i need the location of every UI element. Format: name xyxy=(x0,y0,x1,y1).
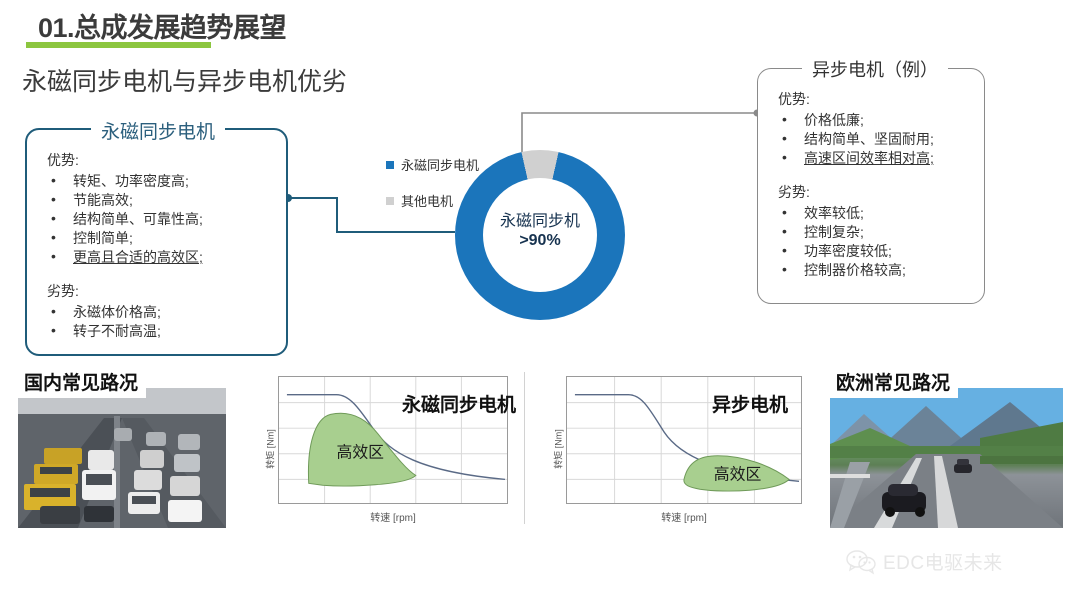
slide-root: 01.总成发展趋势展望 永磁同步电机与异步电机优劣 永磁同步电机 优势: 转矩、… xyxy=(0,0,1080,608)
wechat-icon xyxy=(845,549,877,575)
donut-center-line2: >90% xyxy=(455,231,625,250)
chart-divider xyxy=(524,372,525,524)
x-axis-label: 转速 [rpm] xyxy=(566,509,802,524)
svg-text:高效区: 高效区 xyxy=(336,444,384,462)
list-item: 功率密度较低; xyxy=(774,242,974,261)
callout-title-pmsm: 永磁同步电机 xyxy=(91,117,225,144)
list-item: 更高且合适的高效区; xyxy=(43,248,276,267)
photo-image-highway xyxy=(830,388,1063,528)
efficiency-chart-pmsm: 转矩 [Nm] 高效区 永磁同步电机 转速 [rpm] xyxy=(252,368,514,530)
legend-swatch-gray xyxy=(386,197,394,205)
list-item: 价格低廉; xyxy=(774,111,974,130)
x-axis-label: 转速 [rpm] xyxy=(278,509,508,524)
photo-china-traffic: 国内常见路况 xyxy=(18,366,226,528)
donut-center-label: 永磁同步机 >90% xyxy=(455,212,625,250)
cons-list-pmsm: 永磁体价格高; 转子不耐高温; xyxy=(43,303,276,341)
spacer xyxy=(774,168,974,182)
highway-illustration xyxy=(830,388,1063,528)
donut-center-line1: 永磁同步机 xyxy=(455,212,625,231)
callout-body-pmsm: 优势: 转矩、功率密度高; 节能高效; 结构简单、可靠性高; 控制简单; 更高且… xyxy=(43,150,276,341)
cons-list-induction: 效率较低; 控制复杂; 功率密度较低; 控制器价格较高; xyxy=(774,204,974,280)
chart-title-pmsm: 永磁同步电机 xyxy=(402,390,516,417)
chart-title-induction: 异步电机 xyxy=(712,390,788,417)
legend-swatch-blue xyxy=(386,161,394,169)
efficiency-chart-induction: 转矩 [Nm] 高效区 异步电机 转速 [rpm] xyxy=(540,368,808,530)
y-axis-label: 转矩 [Nm] xyxy=(263,429,276,469)
pros-list-induction: 价格低廉; 结构简单、坚固耐用; 高速区间效率相对高; xyxy=(774,111,974,168)
watermark: EDC电驱未来 xyxy=(845,548,1003,575)
list-item: 结构简单、坚固耐用; xyxy=(774,130,974,149)
legend-label: 其他电机 xyxy=(401,191,453,210)
spacer xyxy=(43,267,276,281)
list-item: 转子不耐高温; xyxy=(43,322,276,341)
pros-label-induction: 优势: xyxy=(778,89,974,109)
watermark-text: EDC电驱未来 xyxy=(883,548,1003,575)
svg-text:高效区: 高效区 xyxy=(714,465,762,483)
list-item: 高速区间效率相对高; xyxy=(774,149,974,168)
list-item: 效率较低; xyxy=(774,204,974,223)
cons-label-pmsm: 劣势: xyxy=(47,281,276,301)
list-item: 结构简单、可靠性高; xyxy=(43,210,276,229)
list-item: 转矩、功率密度高; xyxy=(43,172,276,191)
y-axis-label: 转矩 [Nm] xyxy=(551,429,564,469)
photo-caption-europe: 欧洲常见路况 xyxy=(830,366,958,398)
cons-label-induction: 劣势: xyxy=(778,182,974,202)
callout-body-induction: 优势: 价格低廉; 结构简单、坚固耐用; 高速区间效率相对高; 劣势: 效率较低… xyxy=(774,89,974,280)
pros-label-pmsm: 优势: xyxy=(47,150,276,170)
photo-caption-china: 国内常见路况 xyxy=(18,366,146,398)
pros-list-pmsm: 转矩、功率密度高; 节能高效; 结构简单、可靠性高; 控制简单; 更高且合适的高… xyxy=(43,172,276,267)
callout-box-pmsm: 永磁同步电机 优势: 转矩、功率密度高; 节能高效; 结构简单、可靠性高; 控制… xyxy=(25,128,288,356)
photo-europe-highway: 欧洲常见路况 xyxy=(830,366,1063,528)
list-item: 控制复杂; xyxy=(774,223,974,242)
donut-chart: 永磁同步机 >90% xyxy=(455,150,625,320)
photo-image-traffic xyxy=(18,388,226,528)
callout-box-induction: 异步电机（例） 优势: 价格低廉; 结构简单、坚固耐用; 高速区间效率相对高; … xyxy=(757,68,985,304)
list-item: 节能高效; xyxy=(43,191,276,210)
list-item: 控制简单; xyxy=(43,229,276,248)
callout-title-induction: 异步电机（例） xyxy=(802,56,948,82)
list-item: 永磁体价格高; xyxy=(43,303,276,322)
traffic-illustration xyxy=(18,388,226,528)
list-item: 控制器价格较高; xyxy=(774,261,974,280)
